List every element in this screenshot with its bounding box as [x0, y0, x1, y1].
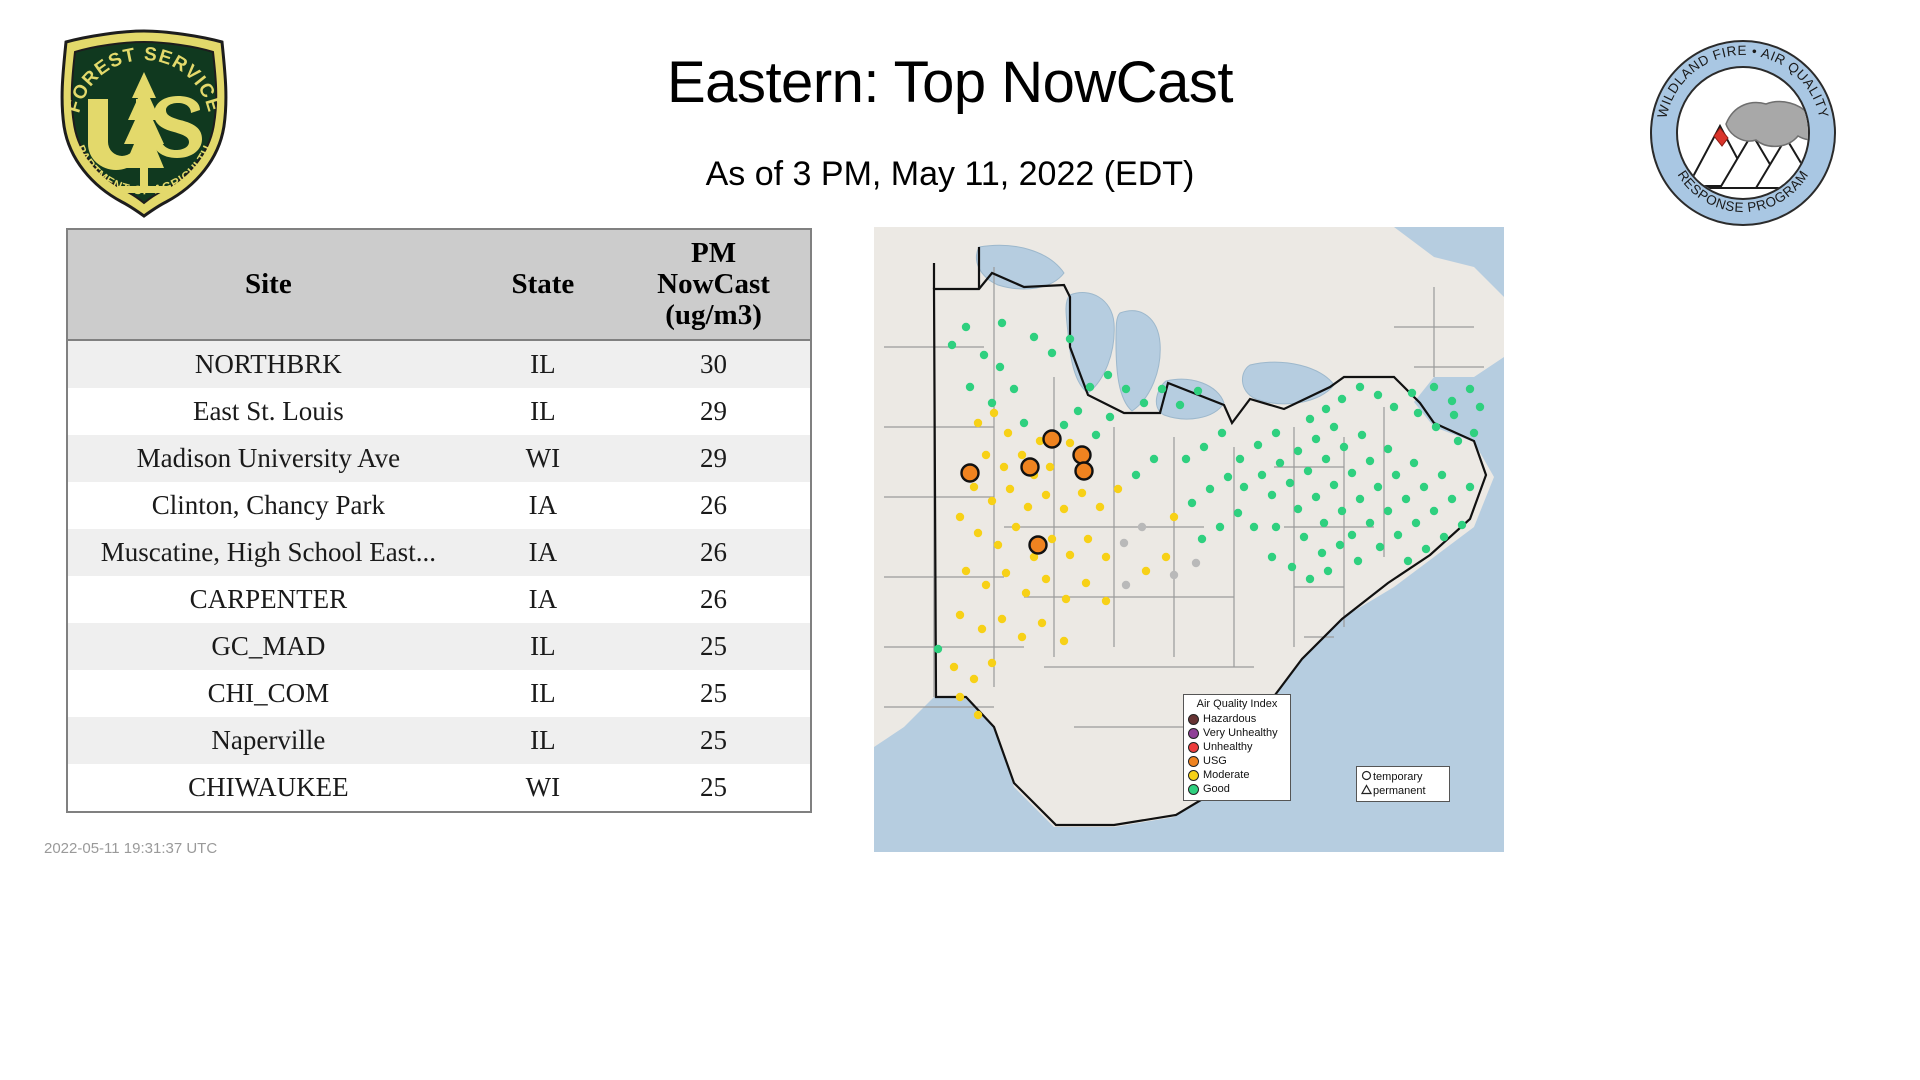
aqi-legend-swatch-icon [1188, 742, 1199, 753]
map-site-dot [1390, 403, 1398, 411]
table-header-row: Site State PM NowCast (ug/m3) [68, 230, 810, 340]
map-site-dot [1384, 445, 1392, 453]
state-cell: IA [469, 482, 617, 529]
map-site-dot [1356, 495, 1364, 503]
map-site-dot [962, 323, 970, 331]
map-site-dot [1354, 557, 1362, 565]
map-site-dot [1022, 589, 1030, 597]
site-cell: GC_MAD [68, 623, 469, 670]
map-site-dot [1300, 533, 1308, 541]
column-header-state[interactable]: State [469, 230, 617, 340]
map-site-dot [1392, 471, 1400, 479]
aqi-legend-title: Air Quality Index [1188, 698, 1286, 710]
map-site-dot [1086, 383, 1094, 391]
map-site-dot [1404, 557, 1412, 565]
map-site-dot [1374, 483, 1382, 491]
wfaqrp-circle-icon: WILDLAND FIRE • AIR QUALITY RESPONSE PRO… [1648, 38, 1838, 228]
map-site-dot [1038, 619, 1046, 627]
map-site-dot [980, 351, 988, 359]
map-site-dot [1182, 455, 1190, 463]
map-site-dot [996, 363, 1004, 371]
map-site-dot [1018, 451, 1026, 459]
site-type-temporary-label: temporary [1373, 771, 1423, 783]
map-site-dot [1084, 535, 1092, 543]
aqi-legend-row: Unhealthy [1188, 740, 1286, 754]
map-site-dot [1458, 521, 1466, 529]
map-site-dot [1018, 633, 1026, 641]
map-site-dot [1348, 531, 1356, 539]
map-site-dot [1062, 595, 1070, 603]
site-cell: Clinton, Chancy Park [68, 482, 469, 529]
map-site-dot [1412, 519, 1420, 527]
aqi-legend-swatch-icon [1188, 770, 1199, 781]
map-site-dot [1122, 385, 1130, 393]
site-type-legend: temporary permanent [1356, 766, 1450, 802]
map-site-dot [1336, 541, 1344, 549]
column-header-pm-line3: (ug/m3) [617, 300, 810, 331]
site-cell: NORTHBRK [68, 340, 469, 388]
map-site-dot [934, 645, 942, 653]
map-site-dot [1376, 543, 1384, 551]
map-top-site-marker [1022, 459, 1039, 476]
map-site-dot [1240, 483, 1248, 491]
map-site-dot [1466, 483, 1474, 491]
map-top-site-marker [1044, 431, 1061, 448]
map-site-dot [1294, 447, 1302, 455]
map-site-dot [1476, 403, 1484, 411]
map-site-dot [1272, 429, 1280, 437]
map-site-dot [1158, 385, 1166, 393]
map-site-dot [1000, 463, 1008, 471]
map-site-dot [1394, 531, 1402, 539]
pm-nowcast-cell: 26 [617, 576, 810, 623]
map-site-dot [1374, 391, 1382, 399]
map-site-dot [1012, 523, 1020, 531]
pm-nowcast-cell: 25 [617, 717, 810, 764]
table-row[interactable]: CARPENTERIA26 [68, 576, 810, 623]
map-site-dot [1140, 399, 1148, 407]
map-site-dot [1322, 455, 1330, 463]
table-row[interactable]: GC_MADIL25 [68, 623, 810, 670]
map-site-dot [1254, 441, 1262, 449]
table-row[interactable]: Clinton, Chancy ParkIA26 [68, 482, 810, 529]
page-title: Eastern: Top NowCast [260, 48, 1640, 118]
aqi-legend-label: Good [1203, 783, 1230, 795]
map-site-dot [1322, 405, 1330, 413]
map-site-dot [1318, 549, 1326, 557]
state-cell: WI [469, 764, 617, 811]
map-site-dot [1320, 519, 1328, 527]
map-site-dot [1048, 349, 1056, 357]
map-site-dot [1176, 401, 1184, 409]
aqi-legend-label: Moderate [1203, 769, 1249, 781]
map-site-dot [1306, 415, 1314, 423]
pm-nowcast-cell: 25 [617, 670, 810, 717]
map-site-dot [1004, 429, 1012, 437]
map-site-dot [1066, 335, 1074, 343]
aqi-legend-swatch-icon [1188, 714, 1199, 725]
map-site-dot [1438, 471, 1446, 479]
map-site-dot [950, 663, 958, 671]
map-site-dot [1276, 459, 1284, 467]
map-site-dot [1066, 551, 1074, 559]
map-site-dot [1030, 333, 1038, 341]
map-site-dot [1466, 385, 1474, 393]
table-head: Site State PM NowCast (ug/m3) [68, 230, 810, 340]
map-site-dot [956, 611, 964, 619]
map-site-dot [1188, 499, 1196, 507]
map-site-dot [1216, 523, 1224, 531]
aqi-legend-row: Moderate [1188, 768, 1286, 782]
map-site-dot [1102, 597, 1110, 605]
table-body: NORTHBRKIL30East St. LouisIL29Madison Un… [68, 340, 810, 811]
map-site-dot [988, 659, 996, 667]
table-row[interactable]: CHI_COMIL25 [68, 670, 810, 717]
site-type-permanent-label: permanent [1373, 785, 1426, 797]
map-site-dot [962, 567, 970, 575]
table-row[interactable]: Madison University AveWI29 [68, 435, 810, 482]
map-site-dot [1312, 435, 1320, 443]
map-site-dot [1366, 457, 1374, 465]
pm-nowcast-cell: 25 [617, 623, 810, 670]
map-site-dot [1046, 463, 1054, 471]
map-site-dot [1096, 503, 1104, 511]
state-cell: IA [469, 576, 617, 623]
aqi-legend-row: Good [1188, 782, 1286, 796]
map-site-dot [978, 625, 986, 633]
map-site-dot [1324, 567, 1332, 575]
map-site-dot [1432, 423, 1440, 431]
map-site-dot [1330, 481, 1338, 489]
map-site-dot [974, 711, 982, 719]
map-site-dot [1448, 495, 1456, 503]
map-site-dot [970, 483, 978, 491]
map-site-dot [1218, 429, 1226, 437]
map-site-dot [1430, 507, 1438, 515]
aqi-legend-swatch-icon [1188, 756, 1199, 767]
aqi-legend-row: Very Unhealthy [1188, 726, 1286, 740]
map-site-dot [1448, 397, 1456, 405]
map-site-dot [998, 319, 1006, 327]
map-site-dot [1348, 469, 1356, 477]
site-cell: CHI_COM [68, 670, 469, 717]
map-site-dot [1410, 459, 1418, 467]
map-site-dot [1234, 509, 1242, 517]
map-site-dot [1042, 575, 1050, 583]
map-site-dot [1060, 637, 1068, 645]
map-site-dot [988, 497, 996, 505]
map-site-dot [1132, 471, 1140, 479]
map-site-dot [1024, 503, 1032, 511]
pm-nowcast-cell: 26 [617, 482, 810, 529]
site-cell: CARPENTER [68, 576, 469, 623]
table-row[interactable]: NORTHBRKIL30 [68, 340, 810, 388]
nowcast-data-table: Site State PM NowCast (ug/m3) NORTHBRKIL… [68, 230, 810, 811]
map-top-site-marker [1074, 447, 1091, 464]
map-site-dot [1170, 513, 1178, 521]
usfs-shield-logo: FOREST SERVICE DEPARTMENT OF AGRICULTURE [52, 28, 237, 218]
site-cell: Madison University Ave [68, 435, 469, 482]
map-site-dot [1420, 483, 1428, 491]
map-site-dot [1340, 443, 1348, 451]
aqi-legend-rows: HazardousVery UnhealthyUnhealthyUSGModer… [1188, 712, 1286, 796]
site-type-temporary-row: temporary [1361, 770, 1445, 784]
page-subtitle: As of 3 PM, May 11, 2022 (EDT) [260, 152, 1640, 196]
map-site-dot [1402, 495, 1410, 503]
map-site-dot [1006, 485, 1014, 493]
map-site-dot [1268, 553, 1276, 561]
site-type-permanent-row: permanent [1361, 784, 1445, 798]
map-site-dot [1102, 553, 1110, 561]
map-site-dot [1194, 387, 1202, 395]
state-cell: IA [469, 529, 617, 576]
map-site-dot [1470, 429, 1478, 437]
map-site-dot [1430, 383, 1438, 391]
state-cell: IL [469, 670, 617, 717]
pm-nowcast-cell: 26 [617, 529, 810, 576]
aqi-legend: Air Quality Index HazardousVery Unhealth… [1183, 694, 1291, 801]
map-site-dot [1200, 443, 1208, 451]
map-site-dot [994, 541, 1002, 549]
map-site-dot [1074, 407, 1082, 415]
map-site-dot [1236, 455, 1244, 463]
map-site-dot [1414, 409, 1422, 417]
table-row[interactable]: East St. LouisIL29 [68, 388, 810, 435]
map-site-dot [982, 451, 990, 459]
map-site-dot [1356, 383, 1364, 391]
map-site-dot [1020, 419, 1028, 427]
map-site-dot [1258, 471, 1266, 479]
map-site-dot [1114, 485, 1122, 493]
pm-nowcast-cell: 29 [617, 388, 810, 435]
map-top-site-marker [1030, 537, 1047, 554]
map-site-dot [1192, 559, 1200, 567]
map-site-dot [1450, 411, 1458, 419]
column-header-pm-nowcast[interactable]: PM NowCast (ug/m3) [617, 230, 810, 340]
pm-nowcast-cell: 30 [617, 340, 810, 388]
map-site-dot [1002, 569, 1010, 577]
column-header-pm-line2: NowCast [617, 269, 810, 300]
site-cell: CHIWAUKEE [68, 764, 469, 811]
map-site-dot [1078, 489, 1086, 497]
map-site-dot [998, 615, 1006, 623]
pm-nowcast-cell: 29 [617, 435, 810, 482]
map-site-dot [1150, 455, 1158, 463]
aqi-legend-row: USG [1188, 754, 1286, 768]
map-site-dot [1294, 505, 1302, 513]
map-site-dot [1120, 539, 1128, 547]
map-site-dot [974, 529, 982, 537]
state-cell: IL [469, 717, 617, 764]
map-site-dot [1312, 493, 1320, 501]
map-site-dot [1170, 571, 1178, 579]
map-site-dot [1440, 533, 1448, 541]
aqi-legend-swatch-icon [1188, 784, 1199, 795]
map-site-dot [956, 513, 964, 521]
map-site-dot [948, 341, 956, 349]
map-site-dot [1060, 505, 1068, 513]
map-site-dot [1268, 491, 1276, 499]
table-row[interactable]: Muscatine, High School East...IA26 [68, 529, 810, 576]
map-site-dot [1162, 553, 1170, 561]
pm-nowcast-cell: 25 [617, 764, 810, 811]
map-site-dot [1042, 491, 1050, 499]
column-header-site[interactable]: Site [68, 230, 469, 340]
wfaqrp-logo: WILDLAND FIRE • AIR QUALITY RESPONSE PRO… [1648, 38, 1838, 228]
map-site-dot [1250, 523, 1258, 531]
map-site-dot [1010, 385, 1018, 393]
state-cell: IL [469, 623, 617, 670]
aqi-legend-row: Hazardous [1188, 712, 1286, 726]
map-site-dot [1384, 507, 1392, 515]
table-row[interactable]: CHIWAUKEEWI25 [68, 764, 810, 811]
map-site-dot [1358, 431, 1366, 439]
map-site-dot [1048, 535, 1056, 543]
top-nowcast-table: Site State PM NowCast (ug/m3) NORTHBRKIL… [66, 228, 812, 813]
map-site-dot [988, 399, 996, 407]
aqi-legend-label: Hazardous [1203, 713, 1256, 725]
map-site-dot [956, 693, 964, 701]
map-site-dot [1330, 423, 1338, 431]
aqi-legend-label: USG [1203, 755, 1227, 767]
state-cell: IL [469, 388, 617, 435]
map-site-dot [1304, 467, 1312, 475]
map-site-dot [1288, 563, 1296, 571]
map-site-dot [1066, 439, 1074, 447]
aqi-legend-swatch-icon [1188, 728, 1199, 739]
triangle-outline-icon [1361, 782, 1373, 800]
table-row[interactable]: NapervilleIL25 [68, 717, 810, 764]
map-site-dot [1206, 485, 1214, 493]
map-site-dot [1272, 523, 1280, 531]
map-site-dot [982, 581, 990, 589]
site-cell: East St. Louis [68, 388, 469, 435]
map-site-dot [1366, 519, 1374, 527]
map-top-site-marker [1076, 463, 1093, 480]
map-site-dot [1454, 437, 1462, 445]
map-site-dot [1224, 473, 1232, 481]
map-site-dot [1106, 413, 1114, 421]
map-site-dot [970, 675, 978, 683]
state-cell: IL [469, 340, 617, 388]
column-header-pm-line1: PM [617, 238, 810, 269]
aqi-legend-label: Unhealthy [1203, 741, 1253, 753]
map-site-dot [1082, 579, 1090, 587]
map-site-dot [1104, 371, 1112, 379]
map-site-dot [1060, 421, 1068, 429]
map-site-dot [1138, 523, 1146, 531]
map-site-dot [1408, 389, 1416, 397]
map-site-dot [1286, 479, 1294, 487]
map-site-dot [1092, 431, 1100, 439]
map-site-dot [1338, 395, 1346, 403]
state-cell: WI [469, 435, 617, 482]
map-site-dot [1422, 545, 1430, 553]
generated-timestamp: 2022-05-11 19:31:37 UTC [44, 840, 217, 857]
map-site-dot [1122, 581, 1130, 589]
map-site-dot [1142, 567, 1150, 575]
site-cell: Muscatine, High School East... [68, 529, 469, 576]
map-site-dot [990, 409, 998, 417]
map-site-dot [1306, 575, 1314, 583]
map-site-dot [974, 419, 982, 427]
map-site-dot [1338, 507, 1346, 515]
map-top-site-marker [962, 465, 979, 482]
aqi-legend-label: Very Unhealthy [1203, 727, 1278, 739]
map-site-dot [1198, 535, 1206, 543]
usfs-shield-icon: FOREST SERVICE DEPARTMENT OF AGRICULTURE [52, 28, 237, 218]
map-site-dot [966, 383, 974, 391]
site-cell: Naperville [68, 717, 469, 764]
